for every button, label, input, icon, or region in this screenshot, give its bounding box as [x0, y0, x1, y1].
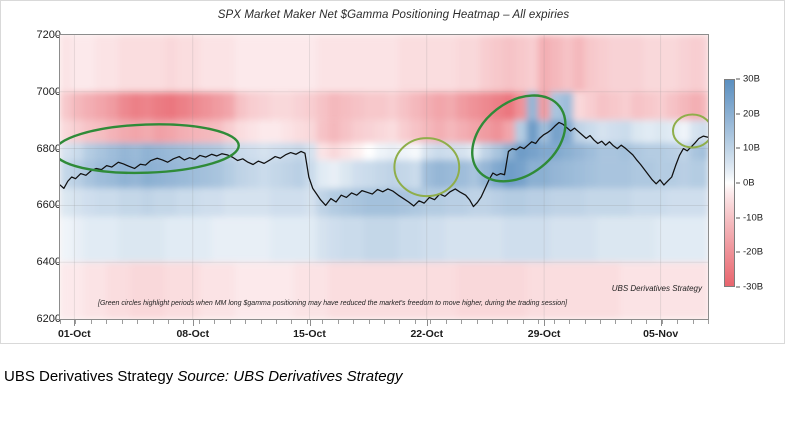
x-tick-major	[427, 320, 428, 326]
in-plot-source-tag: UBS Derivatives Strategy	[612, 284, 702, 293]
chart-figure: SPX Market Maker Net $Gamma Positioning …	[0, 0, 785, 344]
x-tick-minor	[307, 320, 308, 324]
x-tick-minor	[554, 320, 555, 324]
x-tick-minor	[693, 320, 694, 324]
x-tick-minor	[523, 320, 524, 324]
heatmap-canvas	[60, 35, 708, 319]
x-tick-minor	[415, 320, 416, 324]
colorbar-tick	[736, 183, 740, 184]
x-tick-minor	[461, 320, 462, 324]
colorbar-label: 10B	[743, 143, 760, 154]
x-tick-label: 01-Oct	[58, 328, 91, 340]
colorbar: 30B20B10B0B-10B-20B-30B	[724, 79, 784, 287]
chart-title: SPX Market Maker Net $Gamma Positioning …	[1, 9, 786, 21]
colorbar-tick	[736, 148, 740, 149]
x-tick-minor	[477, 320, 478, 324]
x-tick-minor	[291, 320, 292, 324]
x-tick-minor	[322, 320, 323, 324]
heatmap-plot-area[interactable]: UBS Derivatives Strategy [Green circles …	[59, 34, 709, 320]
x-tick-minor	[106, 320, 107, 324]
x-tick-minor	[338, 320, 339, 324]
x-tick-label: 15-Oct	[293, 328, 326, 340]
x-tick-minor	[600, 320, 601, 324]
colorbar-tick	[736, 217, 740, 218]
x-tick-label: 05-Nov	[643, 328, 678, 340]
x-tick-minor	[168, 320, 169, 324]
x-tick-minor	[276, 320, 277, 324]
x-tick-major	[544, 320, 545, 326]
x-tick-minor	[261, 320, 262, 324]
x-tick-minor	[353, 320, 354, 324]
x-tick-label: 08-Oct	[176, 328, 209, 340]
x-tick-minor	[91, 320, 92, 324]
x-tick-label: 29-Oct	[528, 328, 561, 340]
colorbar-tick	[736, 287, 740, 288]
x-tick-minor	[245, 320, 246, 324]
caption-source: Source: UBS Derivatives Strategy	[177, 368, 402, 385]
x-tick-minor	[631, 320, 632, 324]
x-tick-minor	[75, 320, 76, 324]
x-tick-minor	[399, 320, 400, 324]
x-tick-minor	[214, 320, 215, 324]
x-tick-minor	[492, 320, 493, 324]
heatmap-cells	[60, 35, 708, 319]
x-tick-major	[310, 320, 311, 326]
x-tick-minor	[369, 320, 370, 324]
colorbar-tick	[736, 252, 740, 253]
x-tick-label: 22-Oct	[410, 328, 443, 340]
x-tick-minor	[230, 320, 231, 324]
x-tick-minor	[60, 320, 61, 324]
x-tick-minor	[137, 320, 138, 324]
x-tick-major	[74, 320, 75, 326]
x-tick-minor	[615, 320, 616, 324]
colorbar-label: -30B	[743, 282, 763, 293]
x-tick-minor	[538, 320, 539, 324]
x-tick-minor	[384, 320, 385, 324]
x-tick-minor	[153, 320, 154, 324]
x-tick-minor	[199, 320, 200, 324]
figure-caption: UBS Derivatives Strategy Source: UBS Der…	[4, 368, 403, 385]
caption-attribution: UBS Derivatives Strategy	[4, 368, 173, 385]
in-plot-footnote: [Green circles highlight periods when MM…	[98, 300, 567, 307]
x-tick-minor	[569, 320, 570, 324]
colorbar-gradient	[724, 79, 735, 287]
x-tick-minor	[646, 320, 647, 324]
x-tick-minor	[446, 320, 447, 324]
x-axis: 01-Oct08-Oct15-Oct22-Oct29-Oct05-Nov	[59, 320, 709, 346]
colorbar-label: -20B	[743, 247, 763, 258]
colorbar-label: 0B	[743, 178, 755, 189]
colorbar-tick	[736, 113, 740, 114]
x-tick-minor	[122, 320, 123, 324]
x-tick-minor	[677, 320, 678, 324]
colorbar-label: 30B	[743, 74, 760, 85]
x-tick-minor	[708, 320, 709, 324]
x-tick-minor	[662, 320, 663, 324]
y-axis: 720070006800660064006200	[1, 34, 61, 320]
colorbar-label: -10B	[743, 212, 763, 223]
x-tick-major	[661, 320, 662, 326]
colorbar-tick	[736, 79, 740, 80]
x-tick-major	[193, 320, 194, 326]
x-tick-minor	[585, 320, 586, 324]
x-tick-minor	[430, 320, 431, 324]
colorbar-label: 20B	[743, 108, 760, 119]
x-tick-minor	[507, 320, 508, 324]
x-tick-minor	[183, 320, 184, 324]
